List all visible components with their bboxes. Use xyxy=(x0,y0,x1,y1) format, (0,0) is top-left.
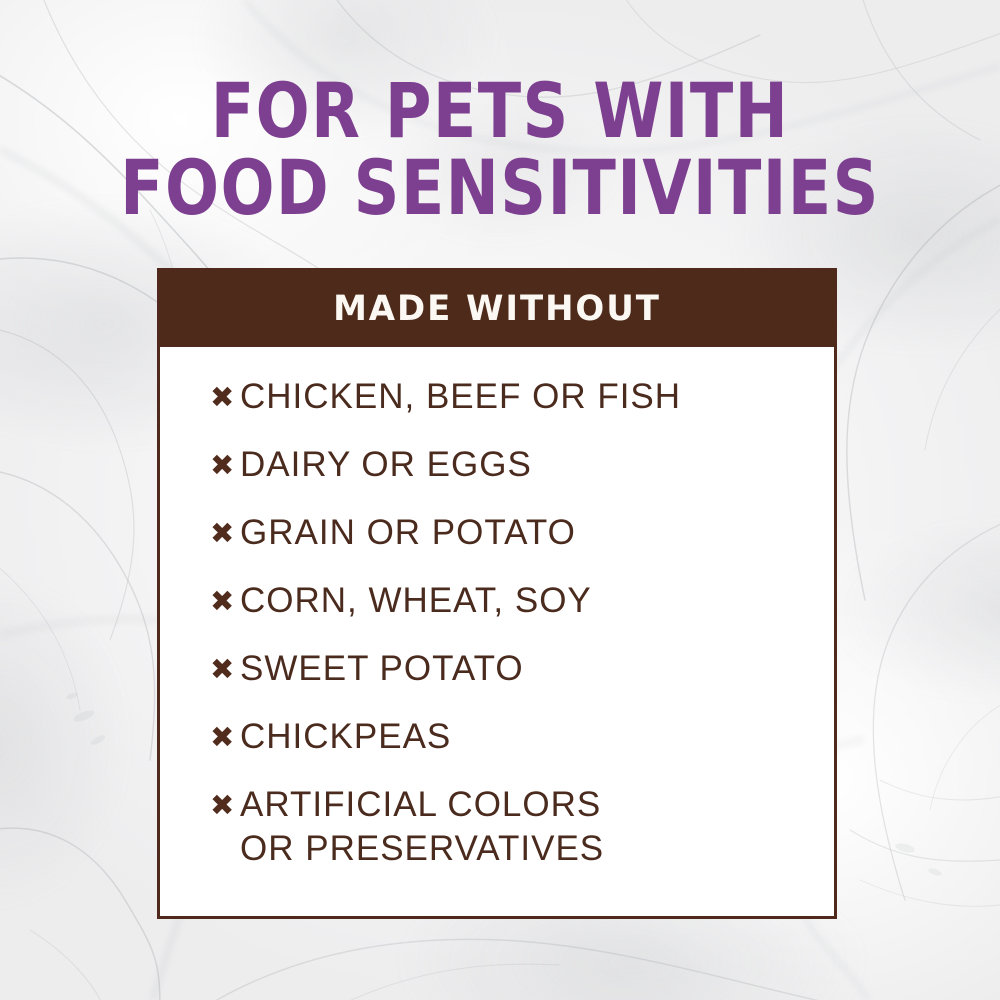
card-body: ✖ CHICKEN, BEEF OR FISH ✖ DAIRY OR EGGS … xyxy=(160,347,834,916)
list-item-label: CHICKEN, BEEF OR FISH xyxy=(240,375,681,419)
marketing-poster: FOR PETS WITH FOOD SENSITIVITIES MADE WI… xyxy=(0,0,1000,1000)
page-title-line-1: FOR PETS WITH xyxy=(35,72,965,149)
card-header-bar: MADE WITHOUT xyxy=(160,271,834,347)
card-header-title: MADE WITHOUT xyxy=(333,289,661,329)
page-title: FOR PETS WITH FOOD SENSITIVITIES xyxy=(35,72,965,226)
list-item: ✖ ARTIFICIAL COLORS OR PRESERVATIVES xyxy=(210,783,834,871)
list-item-label: GRAIN OR POTATO xyxy=(240,511,576,555)
made-without-card: MADE WITHOUT ✖ CHICKEN, BEEF OR FISH ✖ D… xyxy=(157,268,837,919)
x-mark-icon: ✖ xyxy=(210,443,240,487)
list-item: ✖ DAIRY OR EGGS xyxy=(210,443,834,487)
page-title-line-2: FOOD SENSITIVITIES xyxy=(35,149,965,226)
x-mark-icon: ✖ xyxy=(210,783,240,827)
list-item-label: SWEET POTATO xyxy=(240,647,524,691)
list-item-label: ARTIFICIAL COLORS OR PRESERVATIVES xyxy=(240,783,604,871)
list-item: ✖ GRAIN OR POTATO xyxy=(210,511,834,555)
list-item-label: CHICKPEAS xyxy=(240,715,451,759)
x-mark-icon: ✖ xyxy=(210,715,240,759)
x-mark-icon: ✖ xyxy=(210,579,240,623)
list-item-label: DAIRY OR EGGS xyxy=(240,443,532,487)
x-mark-icon: ✖ xyxy=(210,647,240,691)
list-item: ✖ CHICKEN, BEEF OR FISH xyxy=(210,375,834,419)
list-item-label: CORN, WHEAT, SOY xyxy=(240,579,592,623)
list-item: ✖ CORN, WHEAT, SOY xyxy=(210,579,834,623)
excluded-ingredients-list: ✖ CHICKEN, BEEF OR FISH ✖ DAIRY OR EGGS … xyxy=(210,375,834,871)
x-mark-icon: ✖ xyxy=(210,511,240,555)
list-item: ✖ SWEET POTATO xyxy=(210,647,834,691)
x-mark-icon: ✖ xyxy=(210,375,240,419)
list-item: ✖ CHICKPEAS xyxy=(210,715,834,759)
